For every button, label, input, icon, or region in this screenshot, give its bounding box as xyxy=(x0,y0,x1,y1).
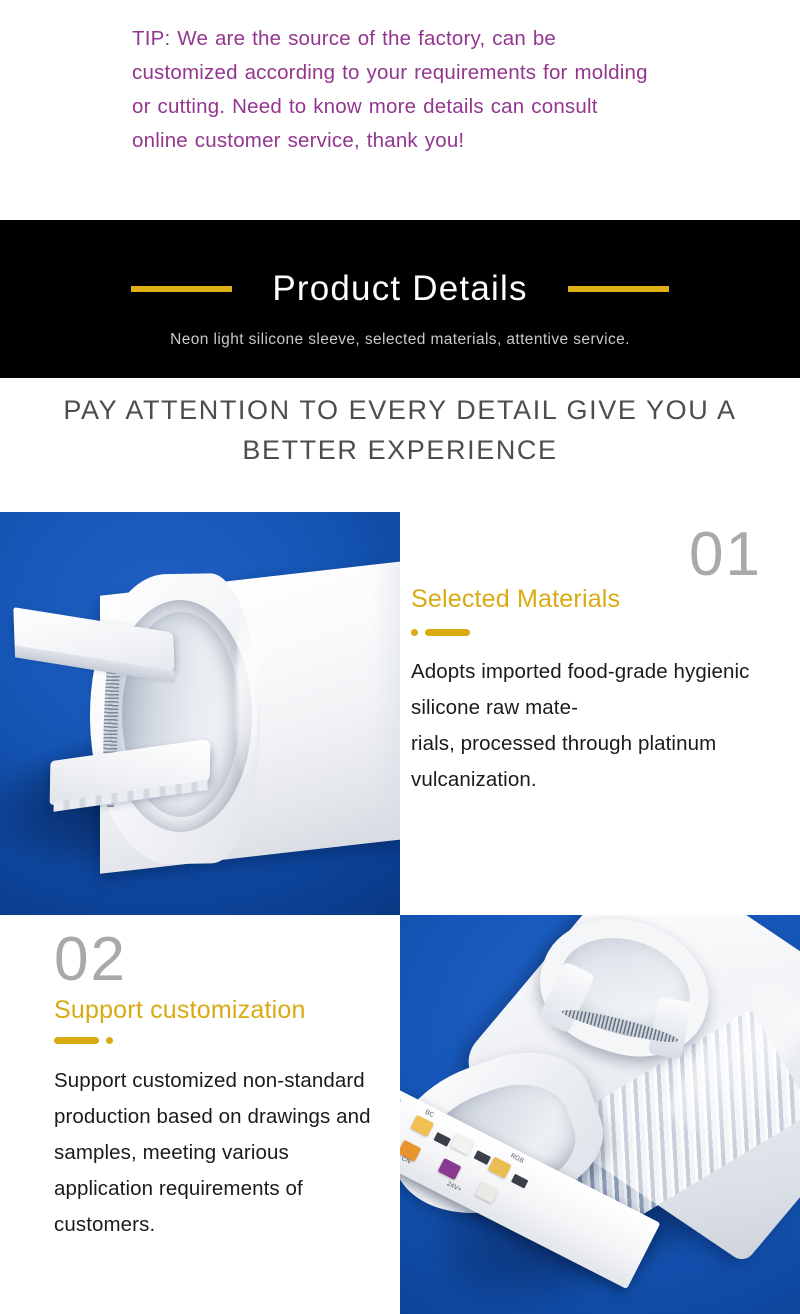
banner-rule-left-icon xyxy=(131,286,232,292)
divider-dash-icon xyxy=(54,1037,99,1044)
tip-block: TIP: We are the source of the factory, c… xyxy=(0,0,800,220)
feature-title-01: Selected Materials xyxy=(411,584,620,614)
feature-row-01: 01 Selected Materials Adopts imported fo… xyxy=(0,512,800,915)
banner-rule-right-icon xyxy=(568,286,669,292)
tip-text: TIP: We are the source of the factory, c… xyxy=(132,22,650,158)
banner-subtitle: Neon light silicone sleeve, selected mat… xyxy=(0,330,800,350)
product-details-banner: Product Details Neon light silicone slee… xyxy=(0,220,800,378)
feature-title-02: Support customization xyxy=(54,995,306,1025)
banner-title-row: Product Details xyxy=(0,269,800,309)
feature-copy-02: 02 Support customization Support customi… xyxy=(0,915,400,1314)
feature-divider-02 xyxy=(54,1037,113,1044)
divider-dot-icon xyxy=(106,1037,113,1044)
section-headline: PAY ATTENTION TO EVERY DETAIL GIVE YOU A… xyxy=(0,390,800,470)
divider-dash-icon xyxy=(425,629,470,636)
feature-photo-01 xyxy=(0,512,400,915)
banner-title: Product Details xyxy=(272,269,527,309)
feature-body-02: Support customized non-standard producti… xyxy=(54,1063,384,1243)
tube-highlight xyxy=(236,602,258,787)
feature-row-02: 02 Support customization Support customi… xyxy=(0,915,800,1314)
feature-divider-01 xyxy=(411,629,470,636)
feature-copy-01: 01 Selected Materials Adopts imported fo… xyxy=(400,512,800,915)
feature-number-02: 02 xyxy=(54,929,127,991)
divider-dot-icon xyxy=(411,629,418,636)
feature-number-01: 01 xyxy=(689,524,762,586)
feature-photo-02: BC CN 24V+ RGB xyxy=(400,915,800,1314)
feature-body-01: Adopts imported food-grade hygienic sili… xyxy=(411,654,771,798)
product-details-page: TIP: We are the source of the factory, c… xyxy=(0,0,800,1314)
